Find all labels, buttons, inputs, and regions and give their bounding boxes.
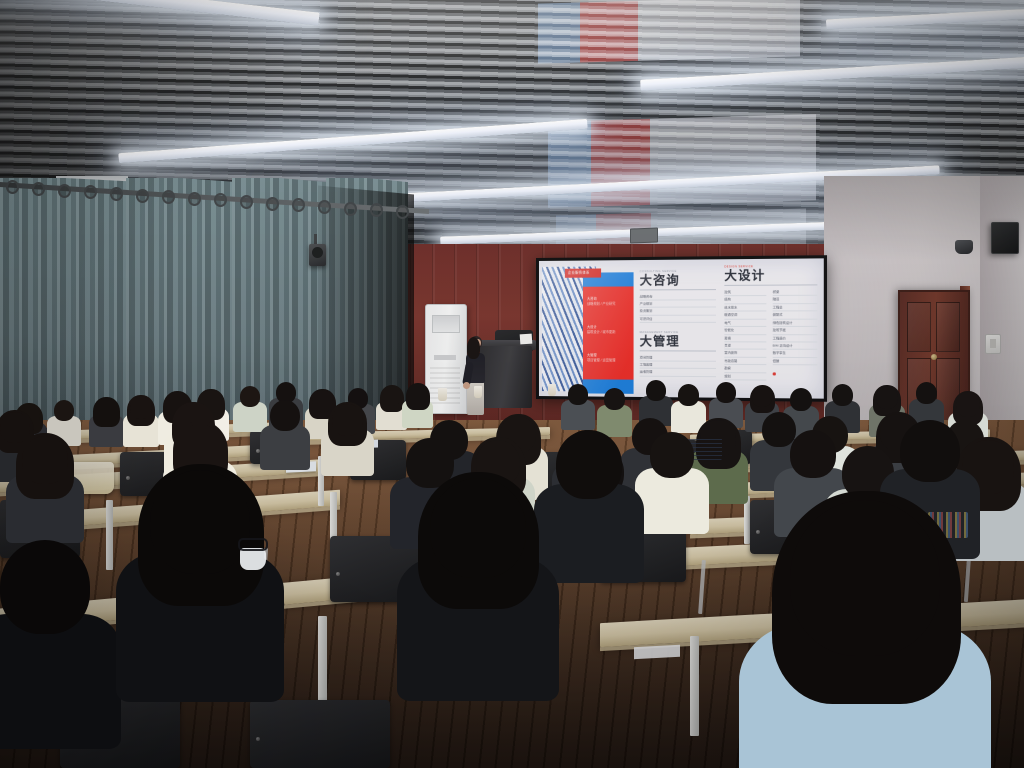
design-c2-0: 桥梁 (773, 289, 818, 297)
audience-body (260, 425, 310, 470)
audience-body (233, 402, 267, 432)
curtain-grommet (110, 187, 123, 201)
management-items: 项目管理 工程监理 运维管理 (640, 354, 716, 377)
audience-member (96, 398, 117, 438)
curtain-grommet (318, 200, 331, 214)
cup (438, 388, 447, 401)
ceiling-camera-icon (955, 240, 973, 254)
audience-head (96, 398, 117, 420)
audience-head (556, 430, 622, 499)
design-c2-6: 工程造价 (773, 335, 818, 343)
slide-red-item-2: 大管理 项目管理 / 运营管理 (587, 353, 630, 363)
management-title: 大管理 (640, 335, 716, 348)
audience-head (900, 420, 960, 482)
audience-member (150, 470, 250, 660)
audience-head (604, 388, 625, 410)
audience-head (270, 400, 300, 431)
photo-scene: 企业服务体系 大咨询 战略规划 / 产业研究 大设计 建筑设计 / 城市更新 大… (0, 0, 1024, 768)
audience-head (678, 384, 699, 406)
design-c1-4: 电气 (724, 319, 766, 327)
design-c1-3: 暖通空调 (724, 312, 766, 320)
slide-section-consulting: CONSULTING SERVICE 大咨询 战略咨询 产业规划 投资策划 可研… (640, 270, 716, 324)
presenter-hair (467, 337, 480, 359)
lectern-papers (520, 334, 533, 345)
notebook (634, 645, 680, 659)
audience-member (332, 404, 363, 463)
curtain-grommet (188, 192, 201, 206)
audience-body (561, 400, 595, 430)
design-c2-3: 装配式 (773, 312, 818, 320)
audience-member (790, 500, 940, 768)
audience-head (332, 404, 363, 436)
audience-head (178, 424, 222, 470)
slide-content: CONSULTING SERVICE 大咨询 战略咨询 产业规划 投资策划 可研… (640, 265, 820, 395)
audience-member (382, 386, 401, 422)
audience-head (832, 384, 853, 406)
slide-red-item-0: 大咨询 战略规划 / 产业研究 (587, 297, 630, 307)
consulting-item-2: 投资策划 (640, 308, 716, 316)
design-c2-4: 绿色建筑设计 (773, 319, 818, 327)
audience-head (752, 386, 772, 407)
audience-head (650, 432, 694, 478)
design-c1-5: 智能化 (724, 327, 766, 335)
audience-member (916, 382, 937, 422)
management-rule (640, 350, 716, 351)
slide-section-management: MANAGEMENT SERVICE 大管理 项目管理 工程监理 运维管理 (640, 331, 716, 377)
consulting-item-1: 产业规划 (640, 300, 716, 308)
design-c1-2: 给水排水 (724, 304, 766, 312)
cup (548, 384, 556, 396)
audience-member (430, 478, 526, 660)
desk-leg (690, 636, 699, 736)
consulting-items: 战略咨询 产业规划 投资策划 可研评估 (640, 293, 716, 323)
consulting-item-3: 可研评估 (640, 316, 716, 324)
slide-section-design: DESIGN SERVICE 大设计 建筑 结构 给水排水 暖通空调 电气 智能… (724, 265, 817, 286)
audience-head (430, 478, 526, 578)
door-knob[interactable] (931, 354, 937, 360)
curtain-grommet (136, 189, 149, 203)
chair-stud (756, 530, 760, 534)
chair-backrest (250, 700, 390, 768)
audience-body (0, 614, 121, 749)
slide-red-item-0-desc: 战略规划 / 产业研究 (587, 301, 630, 306)
audience-head (716, 382, 736, 403)
design-c1-6: 幕墙 (724, 335, 766, 343)
ac-louvers (430, 367, 460, 407)
audience-head (790, 430, 836, 478)
desk-leg (318, 616, 327, 712)
audience-head (790, 388, 812, 411)
audience-body (635, 468, 709, 534)
audience-member (240, 386, 260, 424)
audience-head (568, 384, 588, 405)
slide-tag-badge: 企业服务体系 (565, 268, 601, 277)
presenter-hand (463, 382, 470, 389)
audience-head (130, 396, 152, 419)
audience-head (790, 500, 940, 656)
consulting-title: 大咨询 (640, 274, 716, 287)
slide-red-item-1: 大设计 建筑设计 / 城市更新 (587, 325, 630, 335)
audience-member (0, 540, 90, 711)
audience-member (604, 388, 625, 428)
design-rule (724, 284, 817, 286)
eyeglasses (238, 538, 268, 551)
curtain-grommet (58, 184, 71, 198)
audience-member (22, 436, 68, 523)
face-mask (240, 548, 266, 570)
audience-member (54, 400, 74, 438)
audience-head (646, 380, 666, 401)
audience-head (876, 386, 898, 409)
design-title: 大设计 (724, 269, 817, 283)
curtain-grommet (240, 195, 253, 209)
audience-head (240, 386, 260, 407)
design-c2-7: BIM 正向设计 (773, 342, 818, 350)
desk-leg (106, 500, 113, 570)
design-c1-9: 市政道路 (724, 358, 766, 366)
design-c2-8: 数字孪生 (773, 350, 818, 358)
curtain-grommet (396, 205, 409, 219)
management-item-2: 运维管理 (640, 369, 716, 377)
audience-head (54, 400, 74, 421)
design-c1-7: 景观 (724, 342, 766, 350)
ac-control-panel[interactable] (434, 355, 456, 360)
audience-member (716, 382, 736, 420)
audience-member (556, 430, 622, 555)
audience-member (130, 396, 152, 438)
ac-vent (432, 315, 460, 333)
design-c1-0: 建筑 (724, 289, 766, 297)
design-c2-2: 工程总 (773, 304, 818, 312)
audience-head (312, 390, 333, 412)
audience-head (408, 384, 427, 404)
audience-member (650, 432, 694, 516)
audience-member (568, 384, 588, 422)
design-c2-9: 低碳 (773, 358, 818, 366)
audience-member (646, 380, 666, 418)
ceiling-vent (630, 228, 658, 244)
audience-head (382, 386, 401, 406)
audience-member (270, 400, 300, 457)
audience-head (0, 540, 90, 634)
design-c1-1: 结构 (724, 296, 766, 304)
audience-member (408, 384, 427, 420)
slide-red-item-2-desc: 项目管理 / 运营管理 (587, 358, 630, 363)
door-panel-1 (907, 302, 931, 352)
design-items-col1: 建筑 结构 给水排水 暖通空调 电气 智能化 幕墙 景观 室内装饰 市政道路 勘… (724, 289, 766, 381)
light-switch[interactable] (985, 334, 1001, 354)
left-wall-speaker-icon (309, 244, 326, 266)
slide-red-item-1-desc: 建筑设计 / 城市更新 (587, 330, 630, 335)
slide-surface: 企业服务体系 大咨询 战略规划 / 产业研究 大设计 建筑设计 / 城市更新 大… (539, 258, 824, 398)
audience-member (678, 384, 699, 424)
audience-head (22, 436, 68, 484)
cup (474, 386, 482, 398)
design-c2-5: 建筑节能 (773, 327, 818, 335)
projection-screen[interactable]: 企业服务体系 大咨询 战略规划 / 产业研究 大设计 建筑设计 / 城市更新 大… (536, 255, 827, 402)
right-wall-speaker-icon (991, 222, 1019, 254)
slide-tag-label: 企业服务体系 (565, 268, 601, 277)
curtain-grommet (266, 197, 279, 211)
design-c2-1: 隧道 (773, 296, 818, 304)
design-c1-11: 规划 (724, 373, 766, 381)
audience-head (956, 392, 980, 417)
audience-body (534, 484, 645, 583)
design-items-col2: 桥梁 隧道 工程总 装配式 绿色建筑设计 建筑节能 工程造价 BIM 正向设计 … (773, 289, 818, 366)
audience-head (916, 382, 937, 404)
consulting-rule (640, 289, 716, 290)
curtain-grommet (32, 182, 45, 196)
audience-head (150, 470, 250, 574)
presenter (460, 336, 490, 414)
door-panel-2 (936, 302, 960, 352)
design-c1-8: 室内装饰 (724, 350, 766, 358)
design-red-marker (773, 372, 776, 375)
curtain-grommet (344, 202, 357, 216)
